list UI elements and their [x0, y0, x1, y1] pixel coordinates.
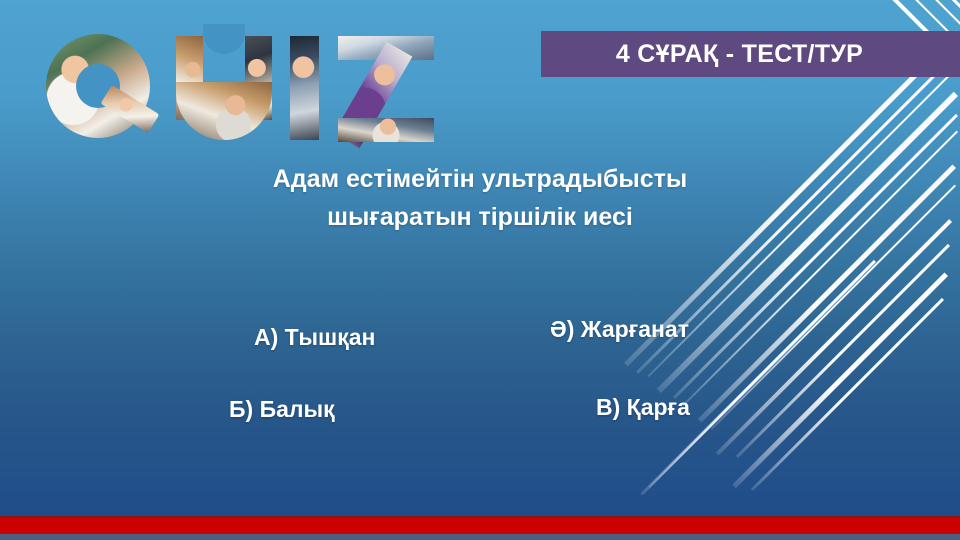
question-text: Адам естімейтін ультрадыбысты шығаратын … [175, 160, 785, 236]
diagonal-stripe-decoration [736, 244, 950, 458]
question-line-2: шығаратын тіршілік иесі [175, 198, 785, 236]
diagonal-stripe-decoration [732, 272, 948, 488]
quiz-logo-letter-z [338, 24, 434, 150]
answer-option-v[interactable]: В) Қарға [596, 394, 690, 421]
footer-bottom-strip [0, 534, 960, 540]
quiz-logo-letter-i [290, 36, 319, 140]
question-line-1: Адам естімейтін ультрадыбысты [175, 160, 785, 198]
quiz-logo-letter-u [176, 24, 272, 150]
diagonal-stripe-decoration [673, 114, 958, 399]
answer-option-e[interactable]: Ә) Жарғанат [550, 316, 689, 343]
quiz-logo [40, 24, 396, 150]
diagonal-stripe-decoration [648, 275, 862, 489]
answer-option-a[interactable]: А) Тышқан [254, 324, 375, 351]
diagonal-stripe-decoration [716, 219, 952, 455]
round-title-text: 4 СҰРАҚ - ТЕСТ/ТУР [616, 40, 885, 69]
diagonal-stripe-decoration [657, 92, 958, 393]
diagonal-stripe-decoration [641, 260, 876, 495]
quiz-slide: 4 СҰРАҚ - ТЕСТ/ТУР Адам естімейтін ультр… [0, 0, 960, 540]
quiz-logo-letter-q [44, 24, 160, 150]
answer-option-b[interactable]: Б) Балық [229, 396, 335, 423]
diagonal-stripe-decoration [751, 298, 944, 491]
footer-red-bar [0, 516, 960, 536]
round-title-banner: 4 СҰРАҚ - ТЕСТ/ТУР [541, 31, 960, 77]
